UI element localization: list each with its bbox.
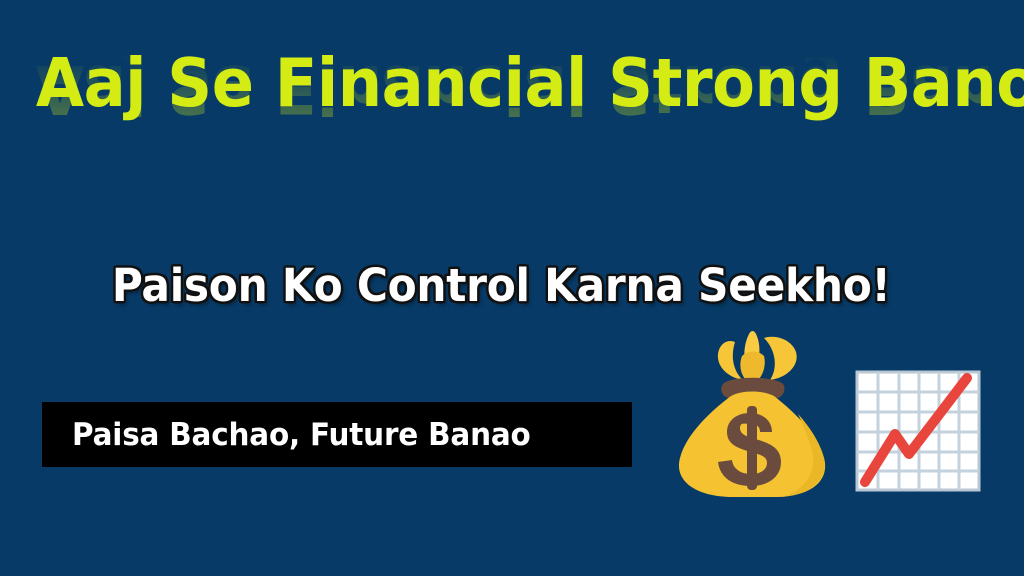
chart-increasing-icon bbox=[855, 370, 981, 492]
subtitle-banner: Paison Ko Control Karna Seekho! bbox=[35, 245, 968, 326]
tagline-text: Paisa Bachao, Future Banao bbox=[72, 417, 531, 453]
page-title: Aaj Se Financial Strong Bano! bbox=[36, 46, 988, 120]
money-bag-icon bbox=[672, 328, 832, 500]
tagline-box: Paisa Bachao, Future Banao bbox=[42, 402, 632, 467]
subtitle-banner-text: Paison Ko Control Karna Seekho! bbox=[112, 261, 891, 311]
thumbnail-canvas: Aaj Se Financial Strong Bano! Aaj Se Fin… bbox=[0, 0, 1024, 576]
headline-block: Aaj Se Financial Strong Bano! Aaj Se Fin… bbox=[0, 46, 1024, 236]
